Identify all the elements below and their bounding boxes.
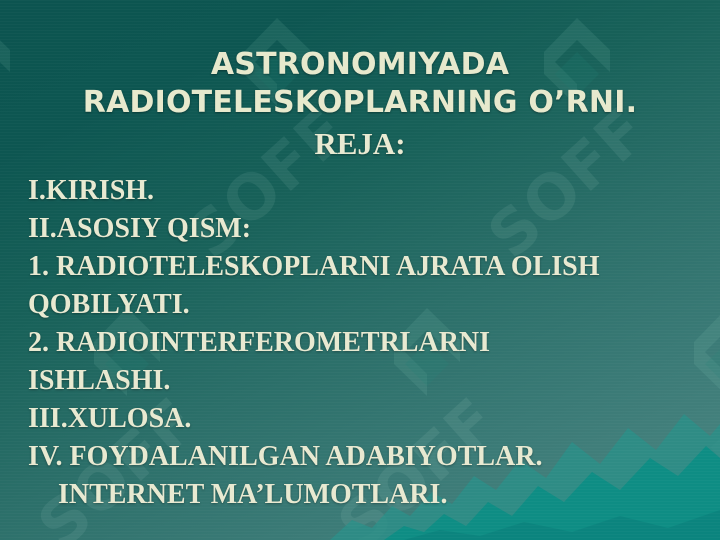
outline-item: 2. RADIOINTERFEROMETRLARNI xyxy=(28,324,708,362)
slide-outline-list: I.KIRISH. II.ASOSIY QISM: 1. RADIOTELESK… xyxy=(0,172,720,514)
slide-title-line-2: RADIOTELESKOPLARNING O’RNI. xyxy=(0,84,720,122)
outline-item: INTERNET MA’LUMOTLARI. xyxy=(28,476,708,514)
slide-title-block: ASTRONOMIYADA RADIOTELESKOPLARNING O’RNI… xyxy=(0,0,720,164)
outline-item: ISHLASHI. xyxy=(28,362,708,400)
slide-title-line-1: ASTRONOMIYADA xyxy=(0,46,720,84)
slide-content: ASTRONOMIYADA RADIOTELESKOPLARNING O’RNI… xyxy=(0,0,720,540)
outline-item: QOBILYATI. xyxy=(28,286,708,324)
outline-item: I.KIRISH. xyxy=(28,172,708,210)
slide-section-heading: REJA: xyxy=(0,124,720,164)
outline-item: IV. FOYDALANILGAN ADABIYOTLAR. xyxy=(28,438,708,476)
outline-item: III.XULOSA. xyxy=(28,400,708,438)
presentation-slide: SOFFSOFFSOFFSOFFSOFFSOFFSOFFSOFFSOFFSOFF… xyxy=(0,0,720,540)
outline-item: 1. RADIOTELESKOPLARNI AJRATA OLISH xyxy=(28,248,708,286)
outline-item: II.ASOSIY QISM: xyxy=(28,210,708,248)
